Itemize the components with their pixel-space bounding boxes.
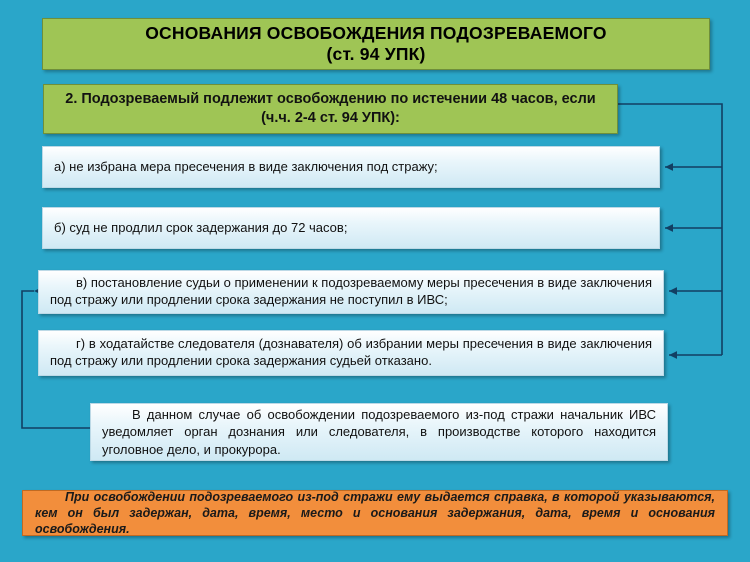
item-v-text: в) постановление судьи о применении к по…: [39, 275, 663, 309]
slide-canvas: ОСНОВАНИЯ ОСВОБОЖДЕНИЯ ПОДОЗРЕВАЕМОГО (с…: [0, 0, 750, 562]
note-text: В данном случае об освобождении подозрев…: [91, 406, 667, 457]
item-box-a: а) не избрана мера пресечения в виде зак…: [42, 146, 660, 188]
intro-statement: 2. Подозреваемый подлежит освобождению п…: [43, 84, 618, 134]
page-title: ОСНОВАНИЯ ОСВОБОЖДЕНИЯ ПОДОЗРЕВАЕМОГО (с…: [42, 18, 710, 70]
item-g-text: г) в ходатайстве следователя (дознавател…: [39, 336, 663, 370]
item-b-text: б) суд не продлил срок задержания до 72 …: [43, 220, 659, 237]
page-title-line2: (ст. 94 УПК): [326, 44, 425, 64]
note-box: В данном случае об освобождении подозрев…: [90, 403, 668, 461]
right-branch-arrows: [665, 167, 722, 355]
item-box-b: б) суд не продлил срок задержания до 72 …: [42, 207, 660, 249]
page-title-text: ОСНОВАНИЯ ОСВОБОЖДЕНИЯ ПОДОЗРЕВАЕМОГО (с…: [43, 23, 709, 66]
page-title-line1: ОСНОВАНИЯ ОСВОБОЖДЕНИЯ ПОДОЗРЕВАЕМОГО: [145, 23, 607, 43]
footer-callout: При освобождении подозреваемого из-под с…: [22, 490, 728, 536]
footer-callout-text: При освобождении подозреваемого из-под с…: [23, 489, 727, 538]
item-a-text: а) не избрана мера пресечения в виде зак…: [43, 159, 659, 176]
item-box-v: в) постановление судьи о применении к по…: [38, 270, 664, 314]
item-box-g: г) в ходатайстве следователя (дознавател…: [38, 330, 664, 376]
intro-statement-text: 2. Подозреваемый подлежит освобождению п…: [44, 90, 617, 127]
